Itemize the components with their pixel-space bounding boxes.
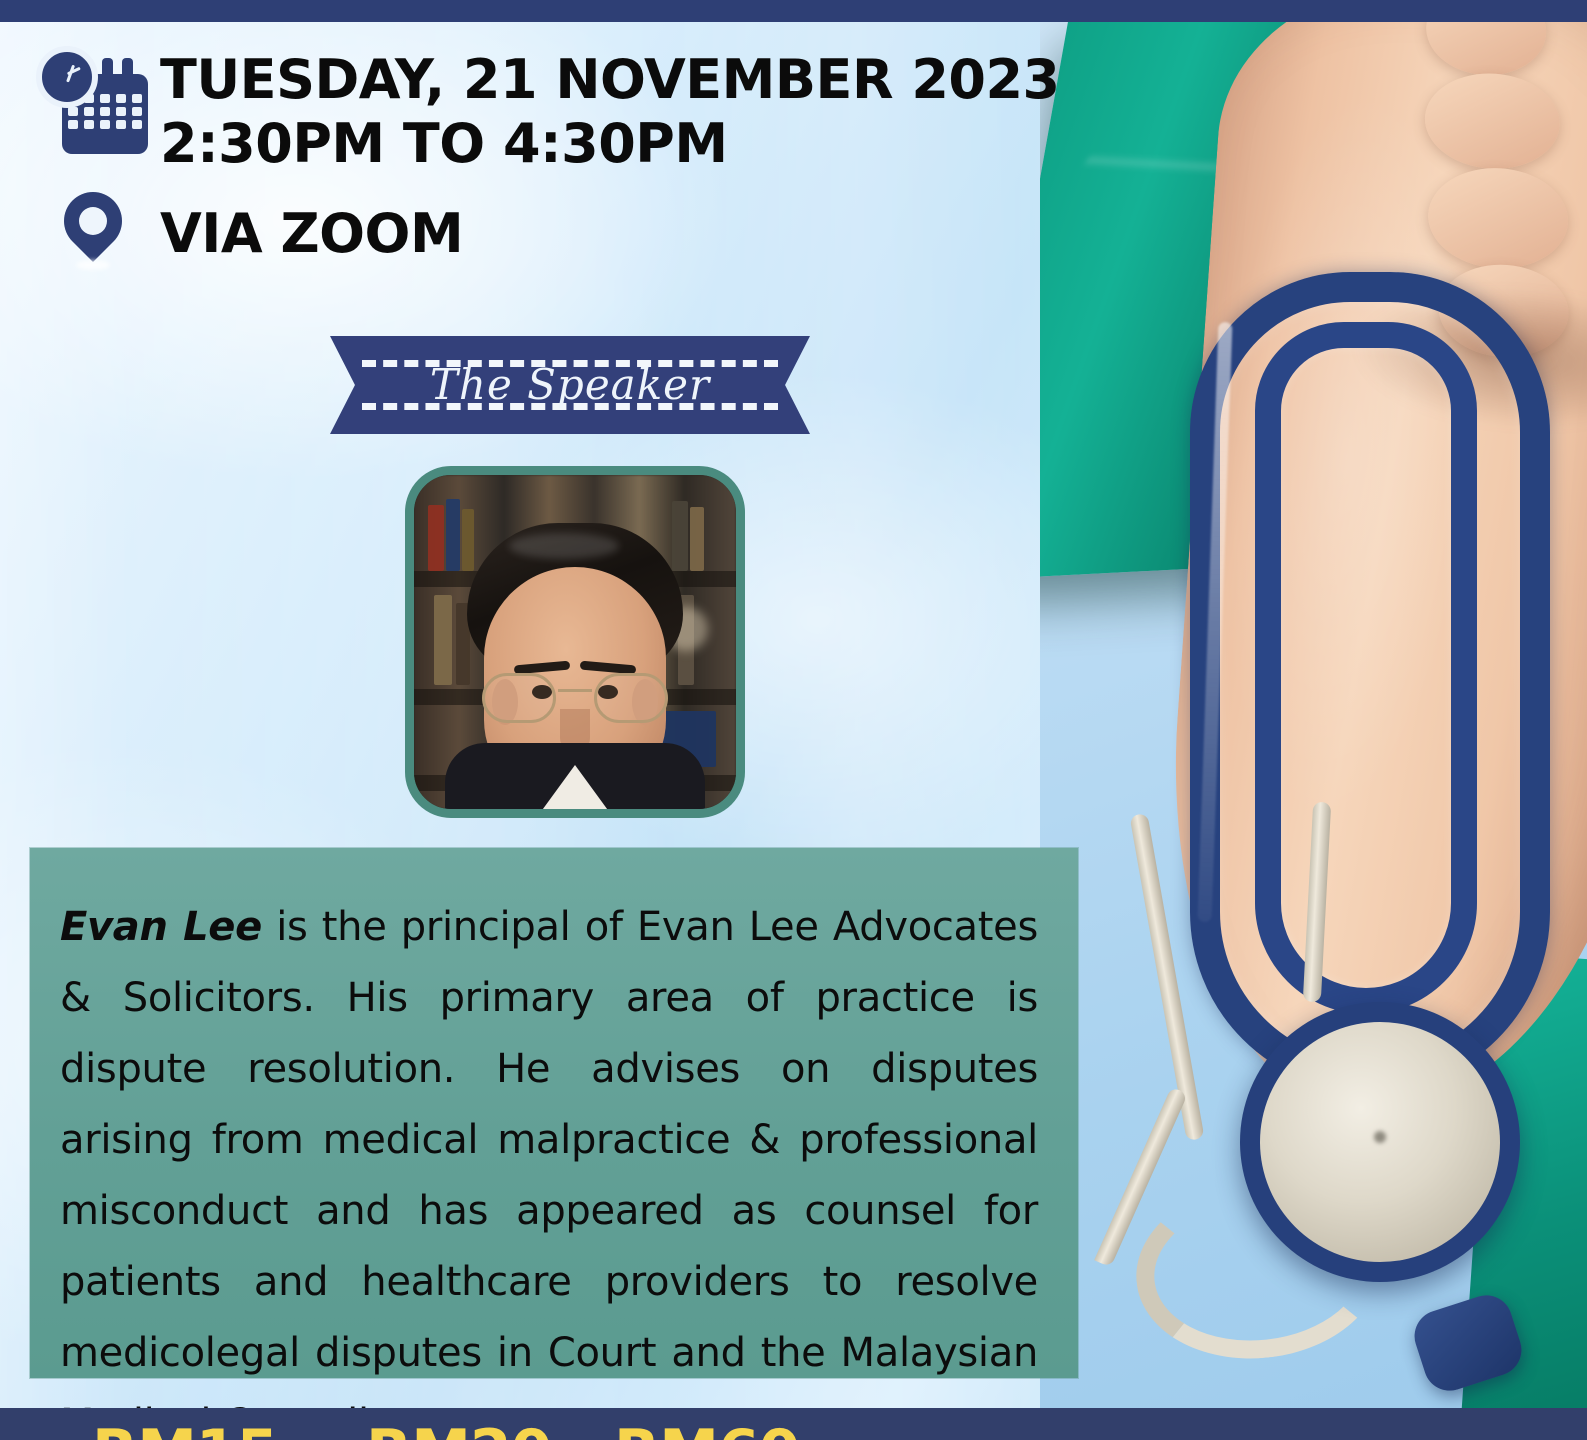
book (446, 499, 460, 571)
book (462, 509, 474, 571)
lens-right (594, 673, 668, 723)
speaker-bio-box: Evan Lee is the principal of Evan Lee Ad… (30, 848, 1078, 1378)
glasses-bridge (558, 689, 592, 692)
pin-shape (52, 180, 134, 262)
event-venue: VIA ZOOM (160, 204, 463, 264)
speaker-name: Evan Lee (60, 904, 262, 950)
stethoscope-tube-inner (1255, 322, 1477, 1014)
clock-face (36, 46, 98, 108)
calendar-tab (122, 58, 133, 78)
calendar-tab (102, 58, 113, 78)
knuckle (1425, 164, 1572, 274)
lens-left (482, 673, 556, 723)
venue-row: VIA ZOOM (34, 186, 1034, 282)
price-tier-2: RM20 (366, 1422, 551, 1440)
speaker-portrait (405, 466, 745, 818)
event-date: TUESDAY, 21 NOVEMBER 2023 (160, 48, 1060, 112)
stethoscope-photo (1040, 22, 1587, 1408)
speaker-bio-body: is the principal of Evan Lee Advocates &… (60, 904, 1038, 1440)
knuckle (1422, 69, 1563, 173)
ribbon-label: The Speaker (330, 363, 810, 407)
stethoscope-chestpiece (1240, 1002, 1520, 1282)
speaker-bio-text: Evan Lee is the principal of Evan Lee Ad… (30, 848, 1078, 1440)
pricing-row: RM15 RM20 RM60 (0, 1408, 1587, 1440)
event-time: 2:30PM TO 4:30PM (160, 112, 1060, 176)
book (672, 501, 688, 571)
book (690, 507, 704, 571)
pin-shadow (76, 260, 110, 270)
speaker-ribbon: The Speaker (330, 336, 810, 434)
date-time-row: TUESDAY, 21 NOVEMBER 2023 2:30PM TO 4:30… (34, 42, 1034, 176)
map-pin-icon (34, 186, 154, 282)
neck (519, 813, 631, 818)
calendar-clock-icon (34, 44, 154, 164)
hair-highlight (509, 533, 619, 559)
knuckle (1423, 22, 1549, 79)
price-tier-3: RM60 (614, 1422, 799, 1440)
event-details-header: TUESDAY, 21 NOVEMBER 2023 2:30PM TO 4:30… (34, 42, 1034, 282)
top-navy-bar (0, 0, 1587, 22)
bottom-navy-bar: RM15 RM20 RM60 (0, 1408, 1587, 1440)
date-time-text: TUESDAY, 21 NOVEMBER 2023 2:30PM TO 4:30… (160, 42, 1060, 176)
price-tier-1: RM15 (92, 1422, 277, 1440)
event-poster: TUESDAY, 21 NOVEMBER 2023 2:30PM TO 4:30… (0, 0, 1587, 1440)
book (434, 595, 452, 685)
book (428, 505, 444, 571)
